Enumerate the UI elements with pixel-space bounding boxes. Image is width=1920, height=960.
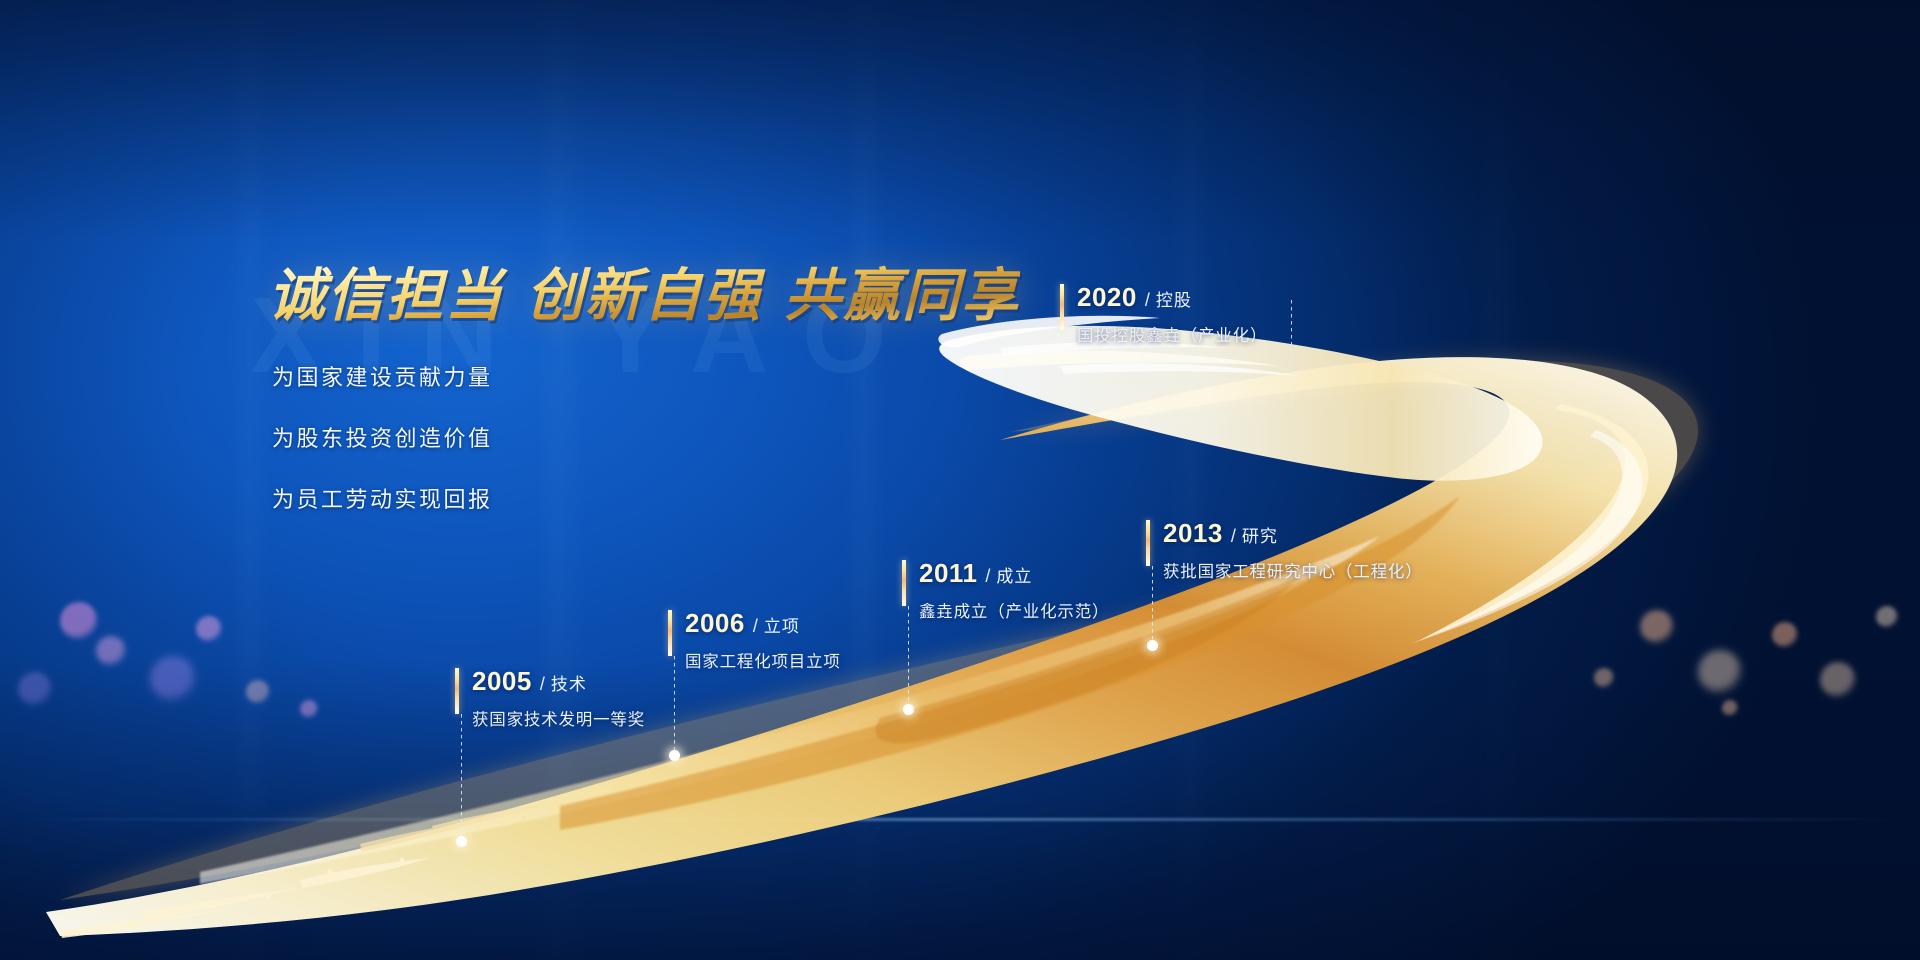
milestone-2013[interactable]: 2013 / 研究 获批国家工程研究中心（工程化） <box>1146 518 1423 582</box>
subtitle-list: 为国家建设贡献力量 为股东投资创造价值 为员工劳动实现回报 <box>272 360 493 543</box>
milestone-2011-description: 鑫垚成立（产业化示范） <box>919 598 1109 622</box>
milestone-2005-head: 2005 / 技术 获国家技术发明一等奖 <box>455 666 645 730</box>
milestone-2020-category: 控股 <box>1156 286 1192 311</box>
milestone-2006-category: 立项 <box>764 612 800 637</box>
milestone-2013-separator: / <box>1231 526 1236 547</box>
bokeh-orange-right-2 <box>1772 622 1798 648</box>
title-part-1: 诚信担当 <box>268 263 504 329</box>
bokeh-orange-right-4 <box>1722 700 1738 716</box>
milestone-2005-year: 2005 <box>472 666 532 697</box>
milestone-2013-text: 2013 / 研究 获批国家工程研究中心（工程化） <box>1163 518 1423 582</box>
bokeh-cream-right-3 <box>1876 606 1898 628</box>
bokeh-pink-left-3 <box>196 616 222 642</box>
milestone-2005-separator: / <box>540 674 545 695</box>
milestone-2020-description: 国投控股鑫垚（产业化） <box>1077 322 1267 346</box>
bokeh-cream-right-2 <box>1820 662 1856 698</box>
milestone-2006-text: 2006 / 立项 国家工程化项目立项 <box>685 608 841 672</box>
milestone-2011-accent-bar <box>902 560 906 606</box>
milestone-2020-text: 2020 / 控股 国投控股鑫垚（产业化） <box>1077 282 1267 346</box>
milestone-2006-separator: / <box>753 616 758 637</box>
milestone-2011-category: 成立 <box>996 562 1032 587</box>
milestone-2020-accent-bar <box>1060 284 1064 330</box>
milestone-2013-accent-bar <box>1146 520 1150 566</box>
subtitle-line-1: 为国家建设贡献力量 <box>272 360 493 392</box>
milestone-2013-leader-line <box>1152 566 1153 644</box>
milestone-2011-year: 2011 <box>919 558 977 589</box>
milestone-2011[interactable]: 2011 / 成立 鑫垚成立（产业化示范） <box>902 558 1109 622</box>
bokeh-orange-left-1 <box>246 680 270 704</box>
milestone-2005-accent-bar <box>455 668 459 714</box>
milestone-2006-description: 国家工程化项目立项 <box>685 648 841 672</box>
milestone-2005[interactable]: 2005 / 技术 获国家技术发明一等奖 <box>455 666 645 730</box>
milestone-2011-leader-line <box>908 606 909 708</box>
horizon-light-line <box>0 818 1920 821</box>
bokeh-purple-left-1 <box>150 656 196 702</box>
page-title: 诚信担当创新自强共赢同享 <box>268 250 1020 332</box>
milestone-2006[interactable]: 2006 / 立项 国家工程化项目立项 <box>668 608 841 672</box>
milestone-2013-category: 研究 <box>1242 522 1278 547</box>
subtitle-line-2: 为股东投资创造价值 <box>272 421 493 453</box>
milestone-2011-head: 2011 / 成立 鑫垚成立（产业化示范） <box>902 558 1109 622</box>
milestone-2013-marker-dot[interactable] <box>1147 640 1158 651</box>
milestone-2013-title-row: 2013 / 研究 <box>1163 518 1423 549</box>
milestone-2011-marker-dot[interactable] <box>903 704 914 715</box>
milestone-2020[interactable]: 2020 / 控股 国投控股鑫垚（产业化） <box>1060 282 1267 346</box>
milestone-2020-head: 2020 / 控股 国投控股鑫垚（产业化） <box>1060 282 1267 346</box>
bokeh-pink-left-1 <box>60 602 98 640</box>
milestone-2011-separator: / <box>985 566 990 587</box>
title-part-3: 共赢同享 <box>784 263 1020 329</box>
milestone-2006-accent-bar <box>668 610 672 656</box>
milestone-2006-leader-line <box>674 656 675 754</box>
banner-canvas: XIN YAO <box>0 0 1920 960</box>
milestone-2020-leader-line <box>1291 300 1292 408</box>
bokeh-orange-right-1 <box>1640 610 1674 644</box>
milestone-2005-title-row: 2005 / 技术 <box>472 666 645 697</box>
milestone-2013-head: 2013 / 研究 获批国家工程研究中心（工程化） <box>1146 518 1423 582</box>
milestone-2005-text: 2005 / 技术 获国家技术发明一等奖 <box>472 666 645 730</box>
milestone-2011-title-row: 2011 / 成立 <box>919 558 1109 589</box>
milestone-2013-year: 2013 <box>1163 518 1223 549</box>
milestone-2020-title-row: 2020 / 控股 <box>1077 282 1267 313</box>
milestone-2006-head: 2006 / 立项 国家工程化项目立项 <box>668 608 841 672</box>
milestone-2020-year: 2020 <box>1077 282 1137 313</box>
milestone-2011-text: 2011 / 成立 鑫垚成立（产业化示范） <box>919 558 1109 622</box>
milestone-2006-title-row: 2006 / 立项 <box>685 608 841 639</box>
bokeh-cream-right-1 <box>1698 650 1742 694</box>
bokeh-purple-left-2 <box>18 672 52 706</box>
milestone-2005-category: 技术 <box>551 670 587 695</box>
milestone-2006-year: 2006 <box>685 608 745 639</box>
milestone-2006-marker-dot[interactable] <box>669 750 680 761</box>
bokeh-pink-left-2 <box>96 636 126 666</box>
subtitle-line-3: 为员工劳动实现回报 <box>272 482 493 514</box>
milestone-2020-separator: / <box>1145 290 1150 311</box>
title-part-2: 创新自强 <box>526 263 762 329</box>
bokeh-orange-right-3 <box>1594 668 1614 688</box>
milestone-2005-marker-dot[interactable] <box>456 836 467 847</box>
milestone-2013-description: 获批国家工程研究中心（工程化） <box>1163 558 1423 582</box>
milestone-2005-leader-line <box>461 714 462 840</box>
milestone-2005-description: 获国家技术发明一等奖 <box>472 706 645 730</box>
bokeh-pink-left-4 <box>300 700 318 718</box>
